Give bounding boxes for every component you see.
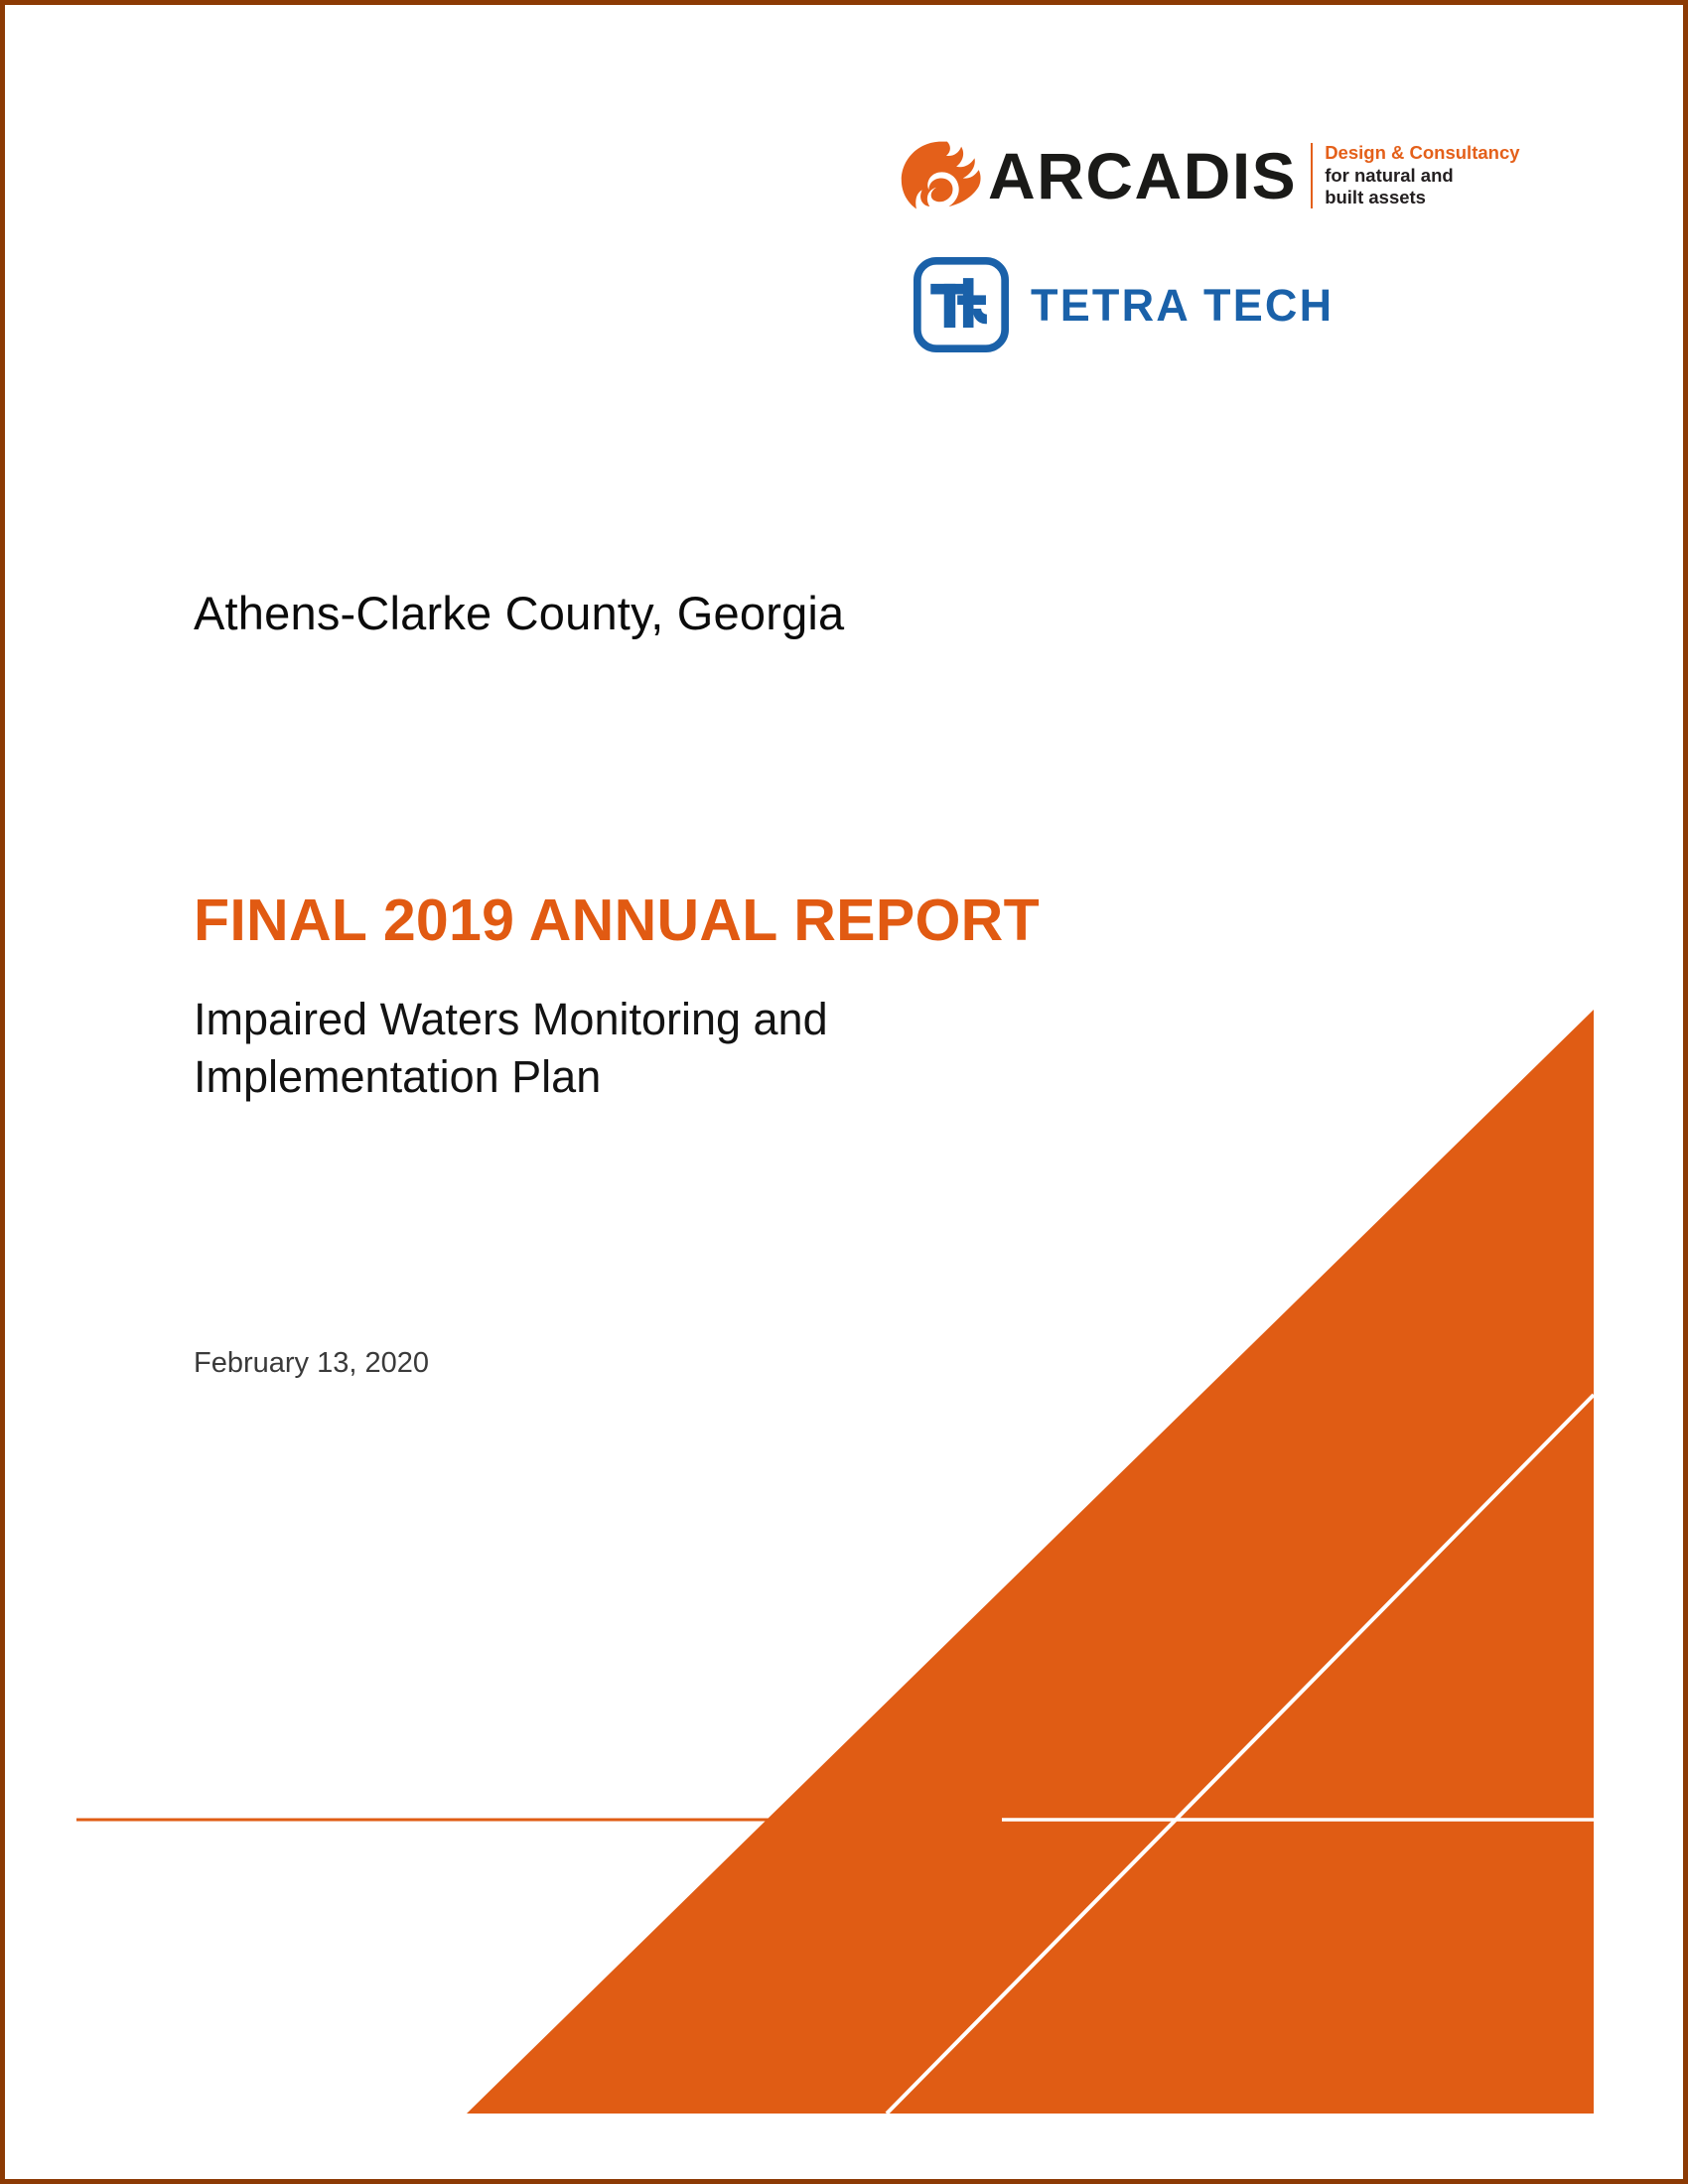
report-title: FINAL 2019 ANNUAL REPORT xyxy=(194,887,1040,954)
report-subtitle: Impaired Waters Monitoring and Implement… xyxy=(194,991,828,1105)
report-subtitle-line2: Implementation Plan xyxy=(194,1048,828,1106)
cover-page: ARCADIS Design & Consultancy for natural… xyxy=(0,0,1688,2184)
client-name: Athens-Clarke County, Georgia xyxy=(194,586,844,640)
report-subtitle-line1: Impaired Waters Monitoring and xyxy=(194,991,828,1048)
report-date: February 13, 2020 xyxy=(194,1347,429,1380)
orange-diagonal-triangle xyxy=(467,1010,1594,2114)
